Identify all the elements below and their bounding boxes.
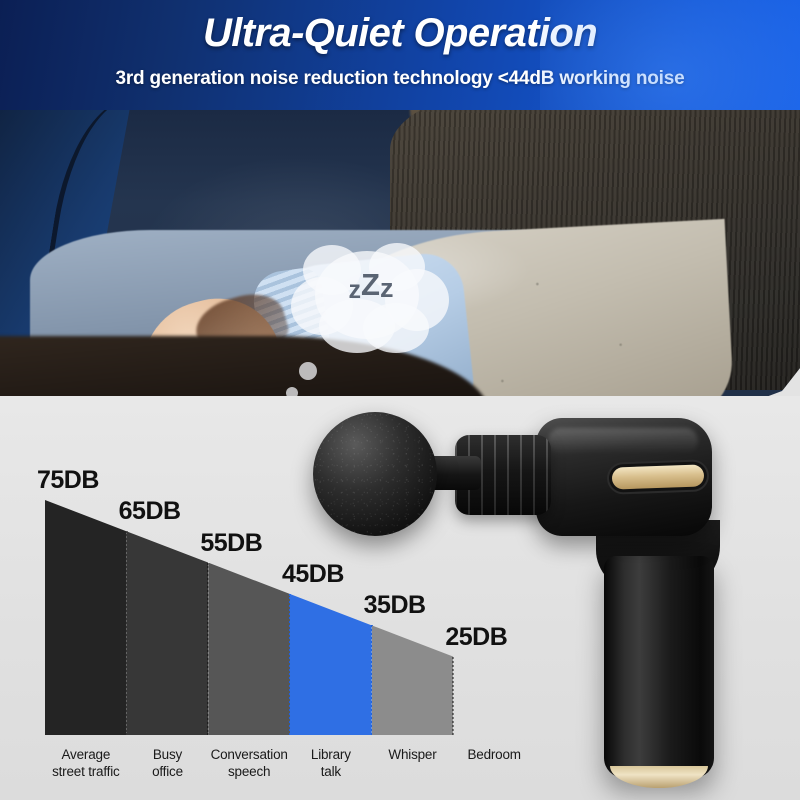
db-value-label: 25DB <box>445 623 507 652</box>
db-value-label: 35DB <box>364 591 426 620</box>
db-value-label: 75DB <box>37 466 99 495</box>
nursery-scene: zZz <box>0 110 800 420</box>
page-title: Ultra-Quiet Operation <box>0 11 800 56</box>
zzz-letter-3: z <box>380 273 394 303</box>
bar-separator <box>452 657 454 735</box>
db-value-label: 45DB <box>282 560 344 589</box>
bar <box>127 531 209 735</box>
bar-group: 75DBAverage street traffic65DBBusy offic… <box>0 396 800 800</box>
zzz-text: zZz <box>289 269 453 303</box>
category-label: Bedroom <box>431 747 557 764</box>
db-value-label: 55DB <box>200 529 262 558</box>
db-value-label: 65DB <box>119 497 181 526</box>
header-banner: Ultra-Quiet Operation 3rd generation noi… <box>0 0 800 112</box>
noise-comparison-chart: 75DBAverage street traffic65DBBusy offic… <box>0 396 800 800</box>
thought-bubble-cloud: zZz <box>289 243 453 367</box>
page-subtitle: 3rd generation noise reduction technolog… <box>0 68 800 90</box>
bar <box>208 563 290 735</box>
zzz-letter-1: z <box>349 276 362 304</box>
bar <box>290 594 372 735</box>
lifestyle-photo: zZz <box>0 110 800 420</box>
zzz-letter-2: Z <box>361 267 380 302</box>
bar <box>45 500 127 735</box>
bar <box>372 625 454 735</box>
product-marketing-image: Ultra-Quiet Operation 3rd generation noi… <box>0 0 800 800</box>
